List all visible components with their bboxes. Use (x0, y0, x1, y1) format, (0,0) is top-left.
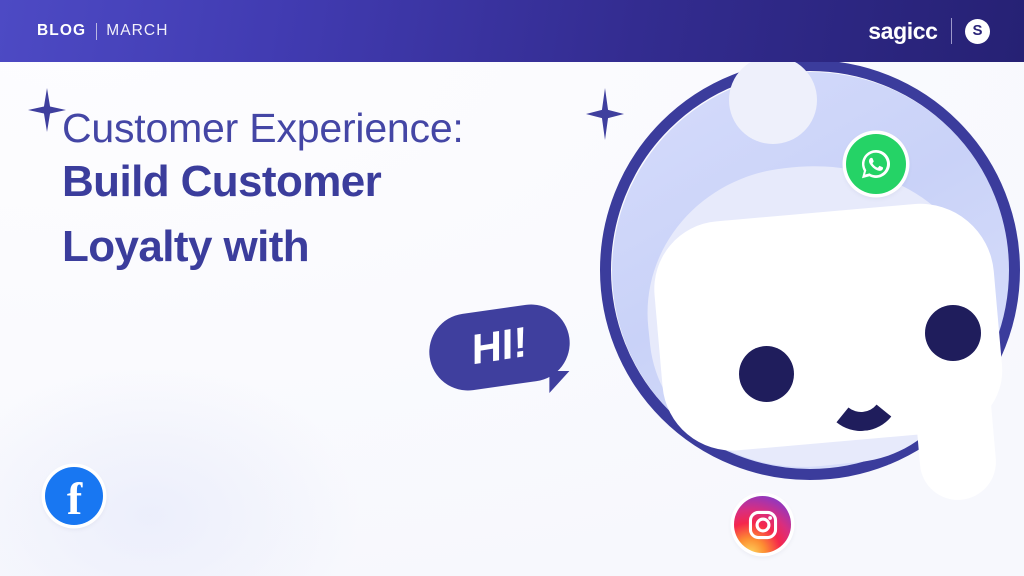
instagram-icon[interactable] (734, 496, 791, 553)
breadcrumb: BLOG MARCH (37, 0, 169, 62)
mascot-right-eye (925, 305, 981, 361)
mascot-top-dot (729, 56, 817, 144)
breadcrumb-blog-label: BLOG (37, 22, 86, 40)
mascot-left-eye (739, 346, 794, 402)
brand-logo[interactable]: sagicc S (868, 0, 990, 62)
hi-speech-bubble-text: HI! (430, 297, 569, 397)
blog-banner: BLOG MARCH sagicc S Customer Experience:… (0, 0, 1024, 576)
facebook-icon[interactable]: f (45, 467, 103, 525)
headline-line-2: Loyalty with (62, 214, 464, 279)
speech-bubble-tail-icon (549, 371, 569, 393)
sparkle-icon (28, 88, 66, 132)
breadcrumb-divider (96, 23, 97, 40)
chatbot-mascot (600, 62, 1024, 576)
headline-line-1: Build Customer (62, 149, 464, 214)
whatsapp-icon[interactable] (846, 134, 906, 194)
breadcrumb-month-label: MARCH (106, 22, 168, 40)
brand-wordmark: sagicc (868, 18, 937, 45)
background-glow (0, 366, 360, 576)
headline-eyebrow: Customer Experience: (62, 108, 464, 149)
header-bar: BLOG MARCH sagicc S (0, 0, 1024, 62)
hi-speech-bubble: HI! (424, 300, 574, 396)
facebook-glyph: f (67, 476, 82, 522)
brand-divider (951, 18, 953, 44)
instagram-glyph (746, 508, 780, 542)
brand-mark-icon: S (965, 19, 990, 44)
brand-mark-letter: S (972, 23, 982, 38)
page-title: Customer Experience: Build Customer Loya… (62, 108, 464, 279)
whatsapp-glyph (857, 145, 895, 183)
